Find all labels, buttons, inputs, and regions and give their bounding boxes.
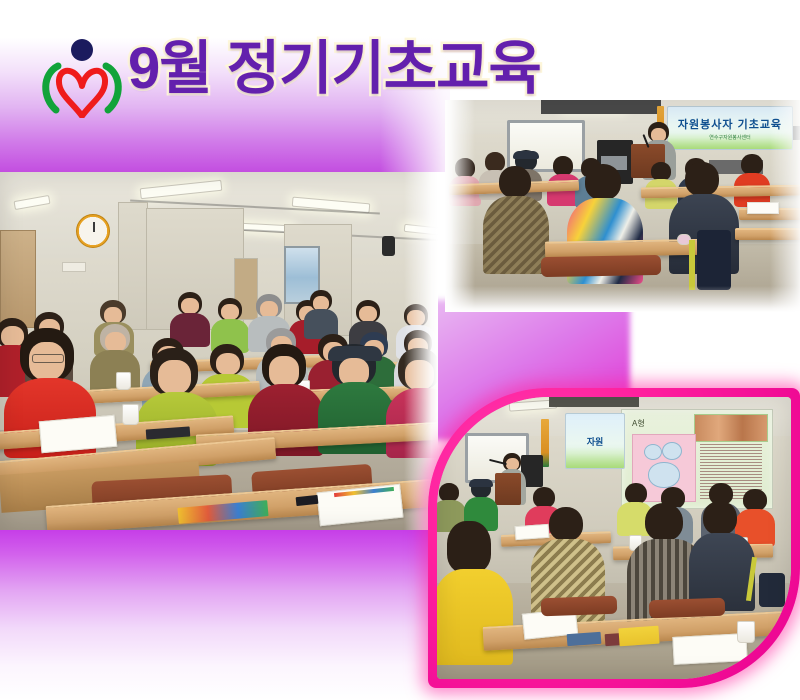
photo-scene bbox=[0, 172, 438, 530]
ceiling-beam bbox=[541, 100, 661, 114]
lecture-hall-photo: 자원봉사자 기초교육 연수구자원봉사센터 bbox=[445, 100, 800, 312]
page-title: 9월 정기기초교육 bbox=[128, 40, 541, 98]
slide-figure bbox=[662, 442, 682, 460]
banner-title: 자원봉사자 기초교육 bbox=[678, 116, 782, 132]
wall-clock bbox=[76, 214, 110, 248]
chair bbox=[649, 598, 726, 619]
logo-arc-right bbox=[106, 66, 118, 110]
door bbox=[0, 230, 36, 328]
slide-photo-strip bbox=[694, 414, 768, 442]
projector-lecture-photo-frame: A형 자원 bbox=[428, 388, 800, 688]
paper-cup bbox=[737, 621, 755, 643]
handout-paper bbox=[39, 415, 117, 454]
handbag bbox=[759, 573, 785, 607]
logo-arc-left bbox=[46, 66, 58, 110]
photo-left-fade bbox=[445, 100, 475, 312]
photo-right-fade bbox=[770, 100, 800, 312]
chair bbox=[541, 596, 618, 617]
cap bbox=[513, 151, 539, 159]
logo-heart bbox=[59, 71, 105, 116]
handbag bbox=[697, 230, 731, 290]
paper-cup bbox=[122, 404, 139, 425]
bag-strap bbox=[689, 240, 695, 290]
photo-scene: 자원봉사자 기초교육 연수구자원봉사센터 bbox=[445, 100, 800, 312]
logo-dot bbox=[71, 39, 93, 61]
ceiling-beam bbox=[549, 397, 639, 407]
book bbox=[567, 632, 602, 646]
paper-cup bbox=[116, 372, 131, 390]
volunteer-center-logo bbox=[28, 36, 136, 118]
cap bbox=[469, 479, 493, 487]
chair bbox=[541, 255, 661, 277]
poster-canvas: 자원봉사자 기초교육 연수구자원봉사센터 bbox=[0, 0, 800, 700]
photo-bottom-fade bbox=[445, 286, 800, 312]
projector-lecture-photo: A형 자원 bbox=[437, 397, 791, 679]
banner-partial-text: 자원 bbox=[587, 435, 604, 448]
classroom-audience-photo bbox=[0, 172, 438, 530]
handout-paper bbox=[515, 524, 550, 540]
yellow-booklet bbox=[618, 626, 659, 647]
slide-label: A형 bbox=[632, 418, 645, 429]
banner-subtitle: 연수구자원봉사센터 bbox=[709, 134, 750, 141]
slide-figure bbox=[644, 444, 662, 460]
eyeglasses bbox=[32, 354, 64, 363]
light-switch bbox=[62, 262, 86, 272]
event-banner-partial: 자원 bbox=[565, 413, 625, 469]
podium bbox=[495, 473, 521, 505]
wall-speaker bbox=[382, 236, 395, 256]
slide-figure bbox=[648, 462, 680, 488]
